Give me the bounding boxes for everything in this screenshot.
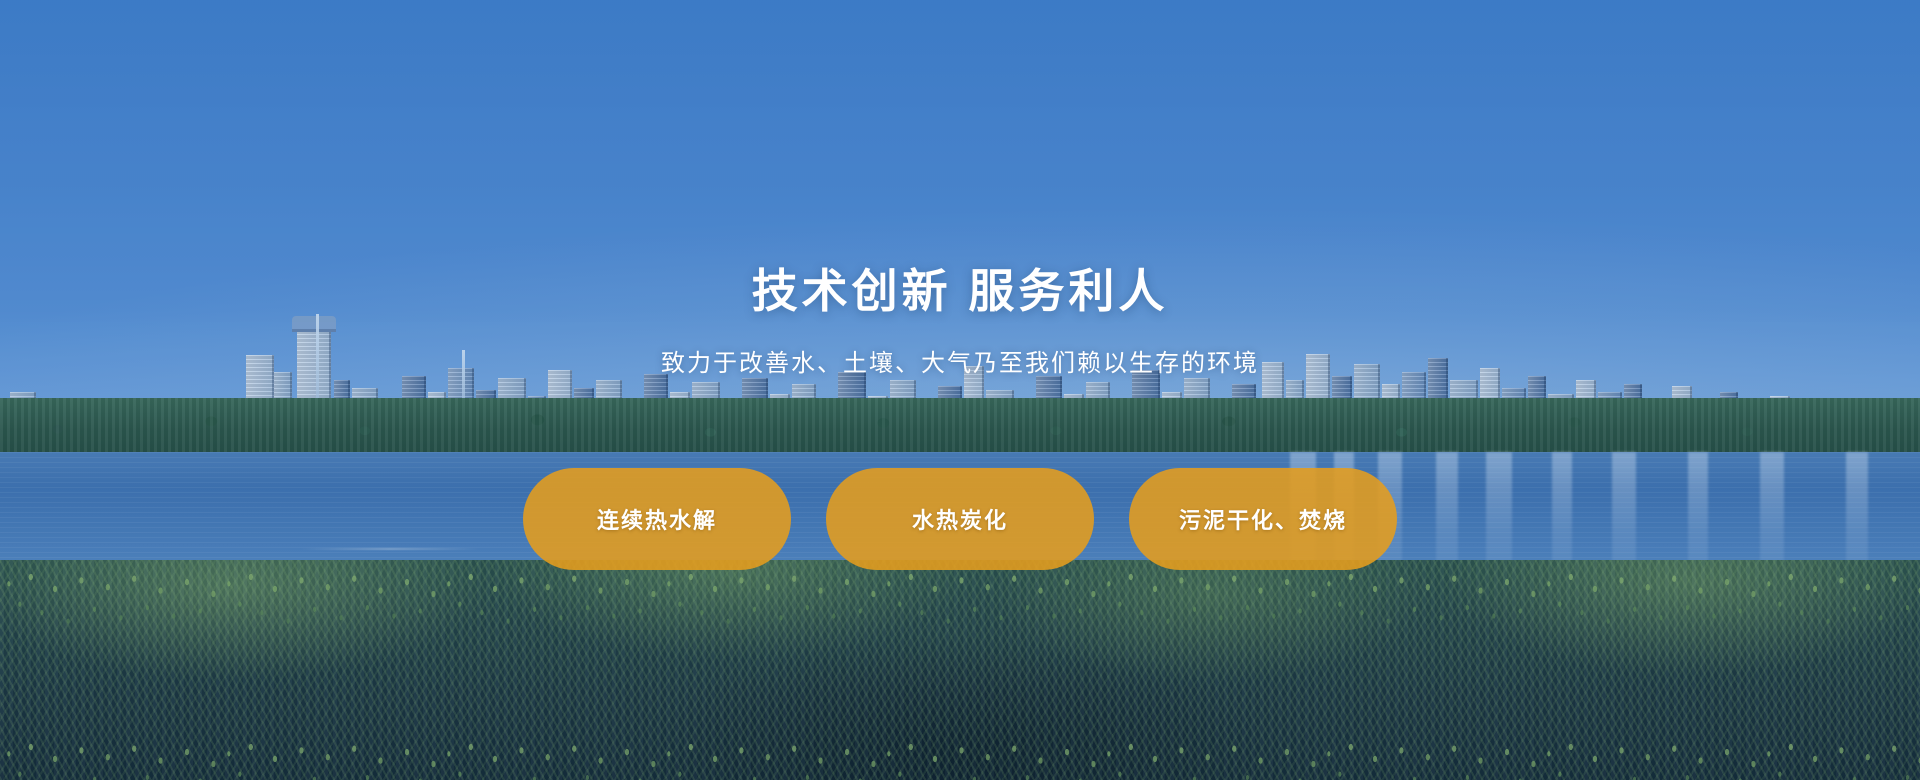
hero-content: 技术创新 服务利人 致力于改善水、土壤、大气乃至我们赖以生存的环境 连续热水解 … [0,0,1920,780]
cta-button-continuous-thermal-hydrolysis[interactable]: 连续热水解 [523,468,791,570]
hero-subtitle: 致力于改善水、土壤、大气乃至我们赖以生存的环境 [661,343,1259,378]
hero-title: 技术创新 服务利人 [752,255,1169,321]
cta-button-hydrothermal-carbonization[interactable]: 水热炭化 [826,468,1094,570]
cta-button-sludge-drying-incineration[interactable]: 污泥干化、焚烧 [1129,468,1397,570]
hero-banner: 技术创新 服务利人 致力于改善水、土壤、大气乃至我们赖以生存的环境 连续热水解 … [0,0,1920,780]
cta-button-row: 连续热水解 水热炭化 污泥干化、焚烧 [523,468,1397,570]
